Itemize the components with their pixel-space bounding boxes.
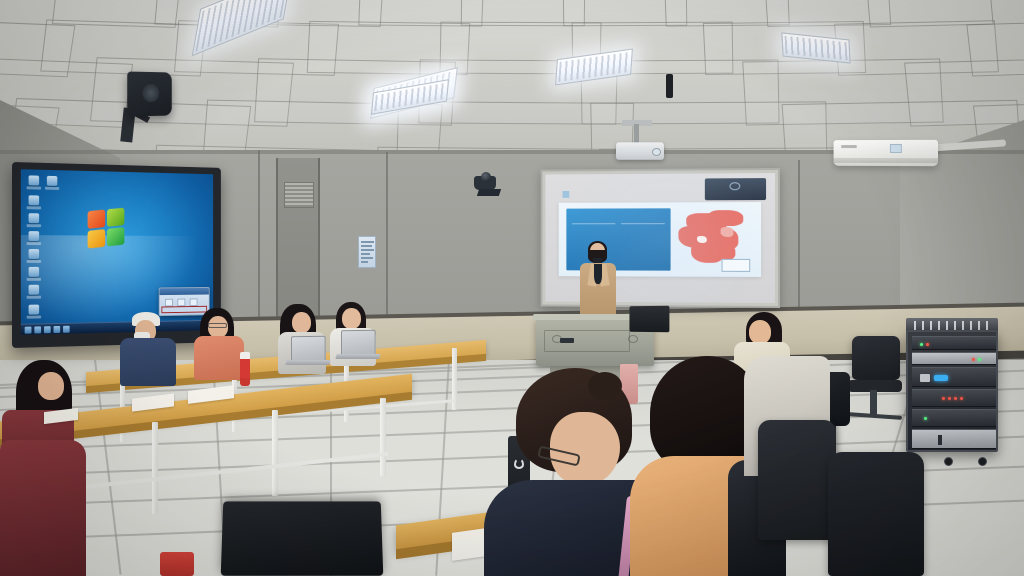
rack-unit-wireless-receiver[interactable] bbox=[912, 336, 996, 350]
eyeglasses-icon bbox=[208, 323, 227, 328]
student-head bbox=[292, 312, 311, 333]
student-left-1 bbox=[10, 360, 80, 440]
desktop-icon-folder-1[interactable] bbox=[29, 195, 41, 209]
wall-placard bbox=[358, 236, 376, 268]
rack-unit-power-distribution[interactable] bbox=[912, 409, 996, 427]
wall-speaker bbox=[127, 71, 172, 116]
taskbar-app-icon[interactable] bbox=[63, 326, 70, 333]
desktop-icon-app-3[interactable] bbox=[29, 267, 41, 281]
student-left-2 bbox=[124, 316, 170, 380]
door-vent-grille bbox=[284, 182, 314, 208]
rack-unit-ups[interactable] bbox=[912, 429, 996, 449]
student-torso bbox=[120, 338, 176, 386]
desktop-icon-folder-2[interactable] bbox=[29, 213, 41, 227]
rack-unit-amplifier-2[interactable] bbox=[912, 389, 996, 407]
dialog-button-3[interactable] bbox=[190, 298, 198, 306]
student-head bbox=[342, 308, 361, 329]
projection-screen bbox=[541, 168, 780, 308]
laptop-2-base bbox=[335, 354, 380, 359]
start-orb-icon[interactable] bbox=[25, 327, 32, 334]
media-icon[interactable] bbox=[54, 326, 61, 333]
dialog-button-1[interactable] bbox=[165, 299, 173, 307]
projector-lens-icon bbox=[652, 148, 661, 156]
rack-unit-processor[interactable] bbox=[912, 352, 996, 365]
desktop-icon-app-2[interactable] bbox=[29, 249, 41, 263]
desktop-icon-recyclebin[interactable] bbox=[47, 176, 58, 190]
slide-heading-marker-icon bbox=[563, 191, 570, 198]
av-equipment-rack[interactable] bbox=[906, 330, 998, 452]
table-leg bbox=[152, 422, 158, 514]
table-leg bbox=[380, 398, 386, 476]
windows-desktop[interactable] bbox=[21, 169, 213, 335]
presenter-turtleneck bbox=[594, 264, 602, 284]
ac-brand-mark bbox=[841, 145, 856, 148]
classroom-door[interactable] bbox=[276, 158, 320, 318]
soda-bottle[interactable] bbox=[240, 352, 250, 386]
slide-column-header bbox=[572, 222, 616, 224]
slide-column-right bbox=[621, 222, 665, 236]
desktop-icon-app-5[interactable] bbox=[29, 305, 41, 319]
windows-logo-icon bbox=[88, 207, 128, 252]
lectern-handle-right[interactable] bbox=[628, 335, 638, 343]
laptop-3[interactable] bbox=[221, 501, 384, 575]
camera-lens-icon bbox=[481, 172, 491, 182]
dialog-button-2[interactable] bbox=[177, 299, 185, 307]
wall-seam bbox=[798, 160, 800, 320]
explorer-icon[interactable] bbox=[44, 326, 51, 333]
slide-column-left bbox=[572, 222, 616, 236]
student-torso bbox=[194, 336, 244, 380]
desktop-icon-computer[interactable] bbox=[29, 175, 41, 189]
speaker-cone bbox=[143, 84, 160, 102]
laptop-1[interactable] bbox=[291, 336, 326, 363]
dialog-alert-text bbox=[162, 307, 206, 308]
camera-bracket bbox=[477, 189, 501, 196]
classroom-photo bbox=[0, 0, 1024, 576]
office-chair-back[interactable] bbox=[758, 420, 836, 540]
projector-drop-pole bbox=[634, 124, 639, 144]
hair-bun-icon bbox=[588, 372, 622, 400]
lectern-monitor bbox=[629, 306, 669, 333]
office-chair-back[interactable] bbox=[852, 336, 900, 380]
lectern-control-badge[interactable] bbox=[560, 338, 574, 343]
student-head bbox=[749, 320, 771, 344]
badge-avatar-icon bbox=[730, 182, 741, 190]
table-leg bbox=[272, 410, 278, 496]
presenter bbox=[578, 243, 618, 315]
lectern bbox=[536, 318, 654, 366]
slide-column-header bbox=[621, 222, 665, 224]
laptop-1-base bbox=[285, 360, 330, 365]
video-call-badge bbox=[705, 178, 766, 200]
ac-display-panel bbox=[890, 144, 902, 153]
interactive-flat-panel-display[interactable] bbox=[12, 162, 221, 348]
student-left-3 bbox=[196, 310, 240, 372]
desktop-icon-app-1[interactable] bbox=[29, 231, 41, 245]
wall-seam bbox=[258, 150, 260, 320]
red-pouch[interactable] bbox=[160, 552, 194, 576]
dialog-titlebar bbox=[160, 288, 209, 295]
ie-icon[interactable] bbox=[34, 326, 41, 333]
wall-seam bbox=[386, 152, 388, 318]
split-air-conditioner bbox=[834, 140, 938, 166]
slide-heading bbox=[563, 191, 573, 198]
desktop-icon-app-4[interactable] bbox=[29, 285, 41, 299]
student-head bbox=[550, 412, 620, 486]
office-chair-back[interactable] bbox=[828, 452, 924, 576]
ceiling-mount-rod bbox=[666, 74, 673, 98]
ac-vent-louvre bbox=[834, 158, 938, 163]
student-left-1-back bbox=[0, 440, 86, 576]
laptop-2[interactable] bbox=[341, 330, 376, 357]
map-legend bbox=[722, 259, 751, 273]
student-head bbox=[38, 372, 64, 400]
rack-unit-amplifier-1[interactable] bbox=[912, 367, 996, 387]
chair-post bbox=[870, 390, 877, 416]
